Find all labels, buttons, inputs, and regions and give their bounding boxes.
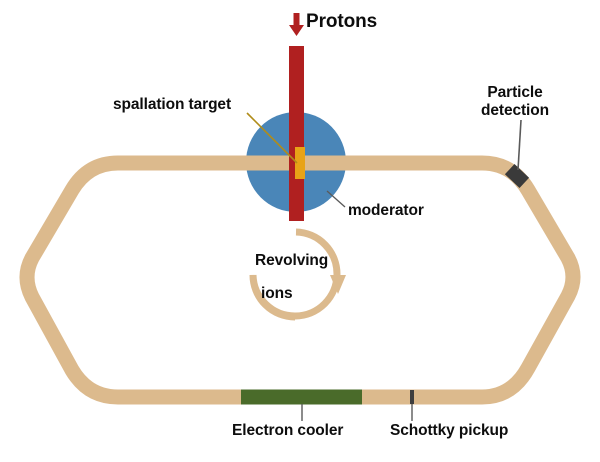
spallation-target-label: spallation target — [113, 96, 231, 114]
arrow-down-icon — [289, 13, 304, 36]
revolving-ions-line-2: ions — [261, 285, 351, 303]
particle-detection-line-1: Particle — [487, 84, 542, 101]
schottky-pickup-label: Schottky pickup — [390, 422, 508, 440]
electron-cooler-label: Electron cooler — [232, 422, 343, 440]
revolving-ions-line-1: Revolving — [255, 252, 328, 269]
protons-label: Protons — [306, 11, 377, 33]
diagram-graphics — [0, 0, 600, 462]
moderator-label: moderator — [348, 202, 424, 220]
particle-detection-leader-line — [518, 120, 521, 170]
proton-beam-bar[interactable] — [289, 46, 304, 221]
revolving-ions-label: Revolving ions — [255, 252, 351, 303]
particle-detection-label: Particle detection — [460, 84, 570, 120]
diagram-canvas: Protons spallation target Particle detec… — [0, 0, 600, 462]
moderator-leader-line — [327, 191, 345, 207]
particle-detection-line-2: detection — [481, 102, 549, 119]
